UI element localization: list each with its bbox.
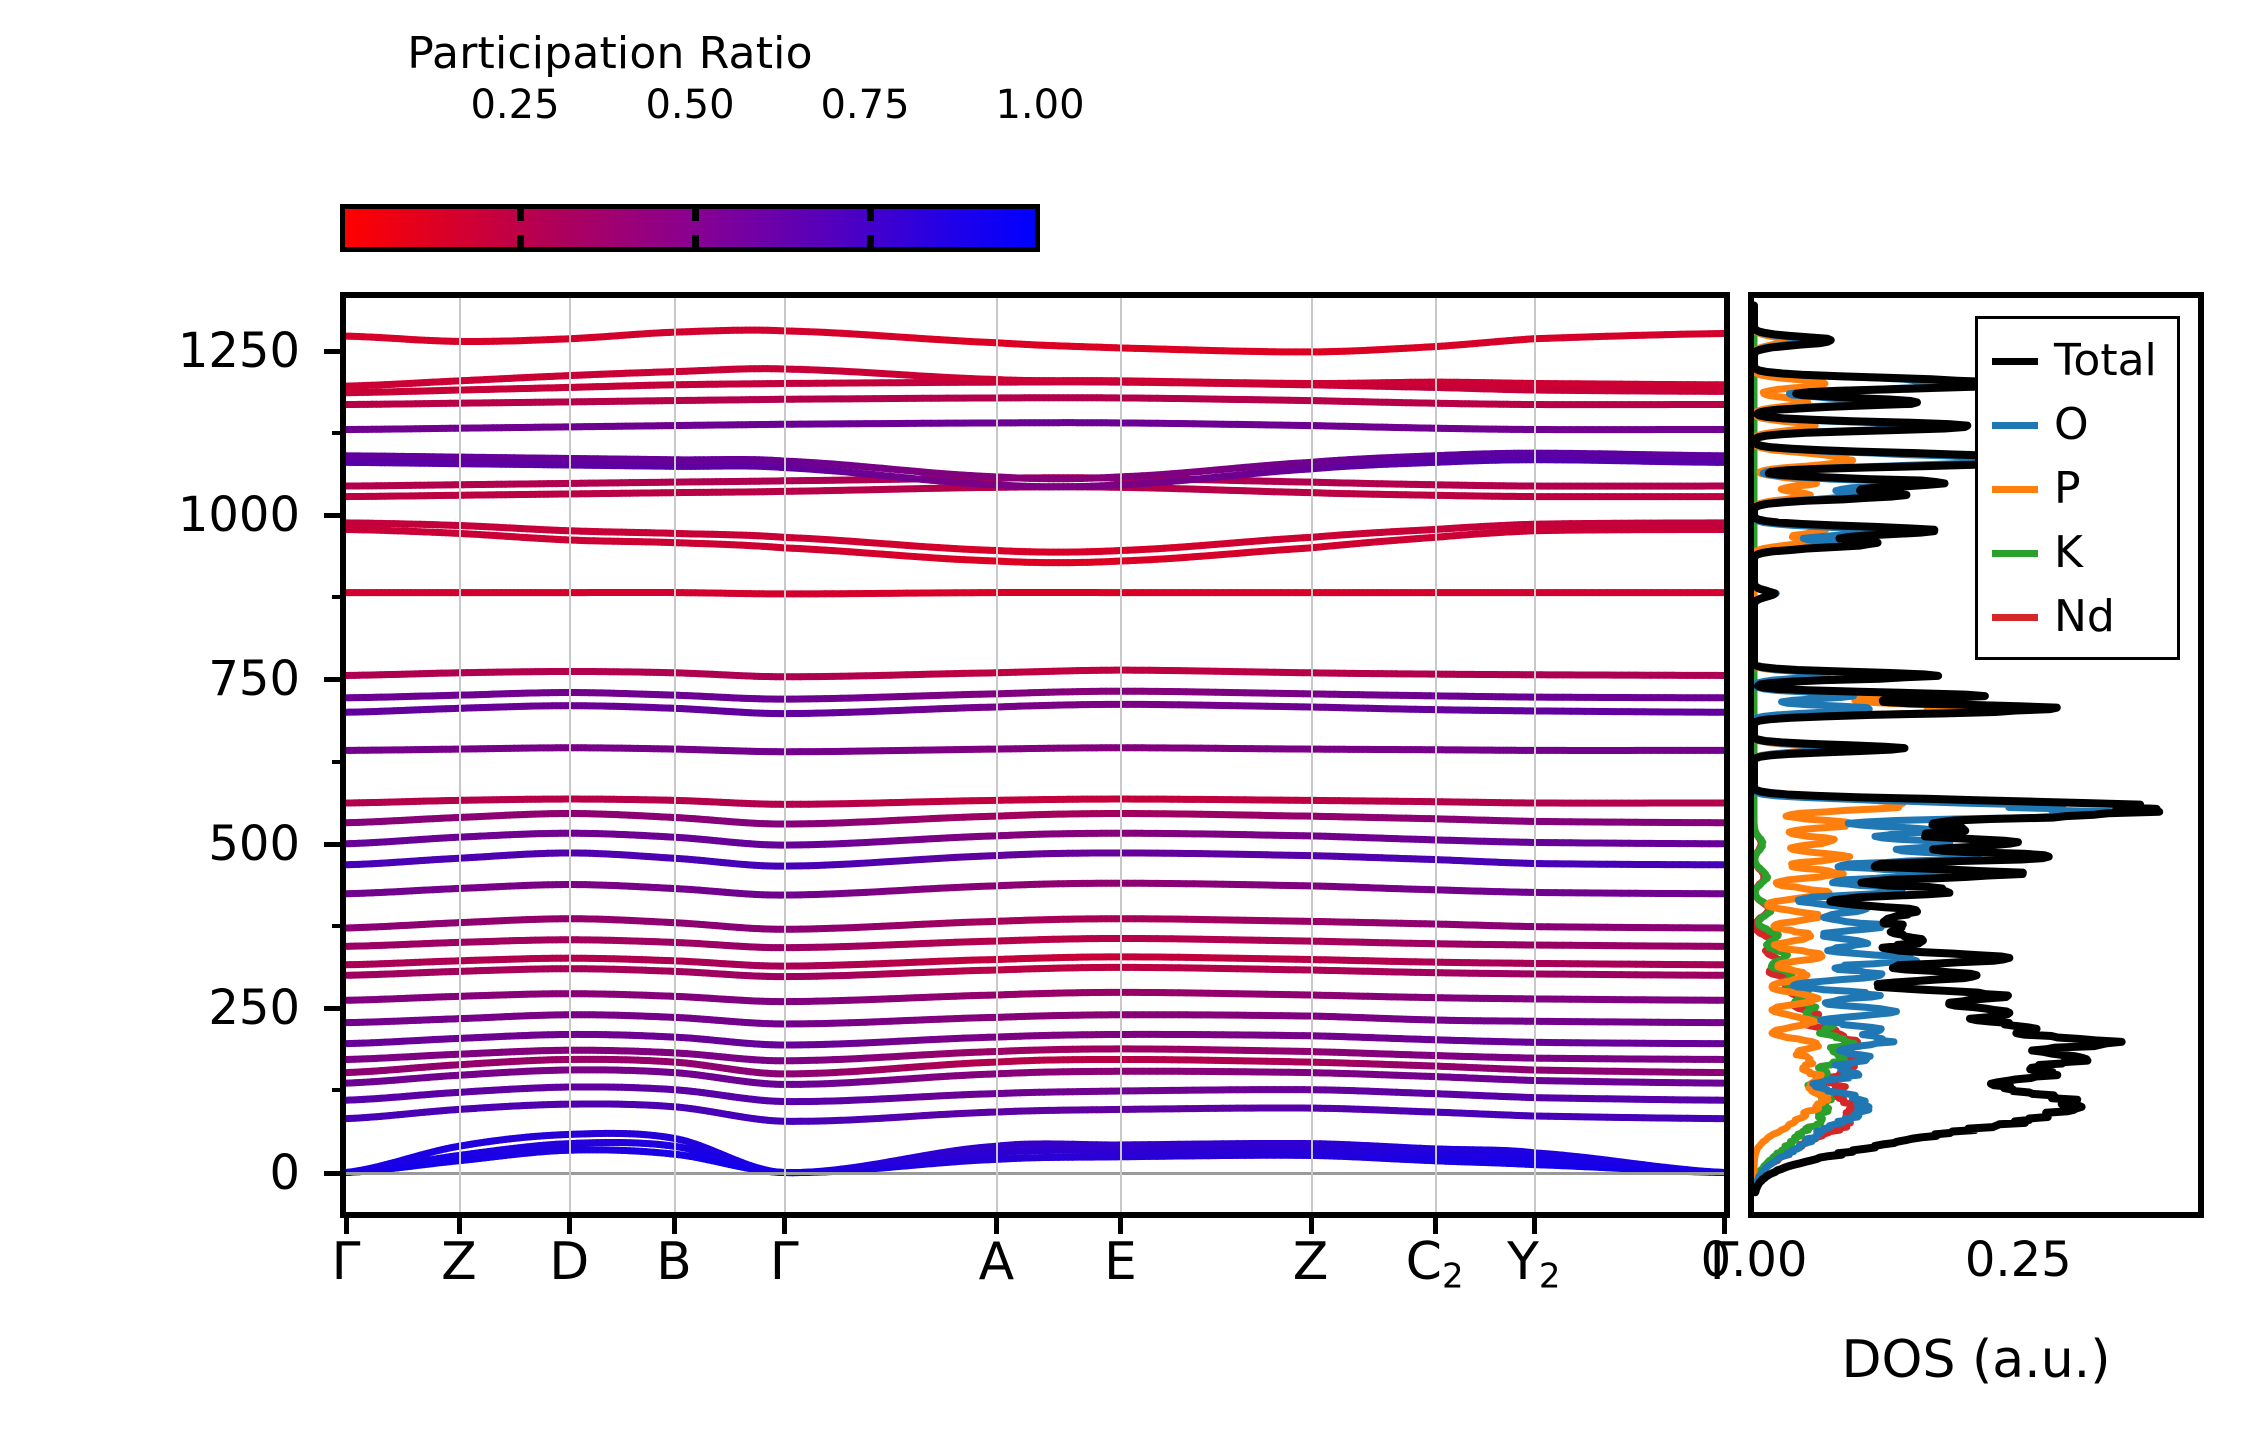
phonon-band-dos-figure: Participation Ratio 0.250.500.751.00 025… — [0, 0, 2259, 1455]
colorbar-tick — [517, 209, 524, 221]
band-curves — [346, 298, 1724, 1212]
band-y-axis-title-wrap: Frequency (cm⁻¹) — [0, 0, 340, 1218]
colorbar-tick-label: 0.25 — [470, 82, 559, 128]
colorbar-tick — [867, 235, 874, 247]
colorbar-tick-label: 1.00 — [995, 82, 1084, 128]
colorbar-tick-label: 0.75 — [820, 82, 909, 128]
colorbar-tick-labels: 0.250.500.751.00 — [238, 82, 1042, 128]
participation-ratio-colorbar — [340, 204, 1040, 252]
colorbar-tick-label: 0.50 — [645, 82, 734, 128]
band-structure-panel — [340, 292, 1730, 1218]
colorbar-tick — [692, 209, 699, 221]
colorbar-tick — [517, 235, 524, 247]
colorbar-tick — [692, 235, 699, 247]
band-plot-area — [346, 298, 1724, 1212]
colorbar-title: Participation Ratio — [330, 28, 890, 79]
colorbar-gradient — [345, 209, 1035, 247]
colorbar-tick — [867, 209, 874, 221]
